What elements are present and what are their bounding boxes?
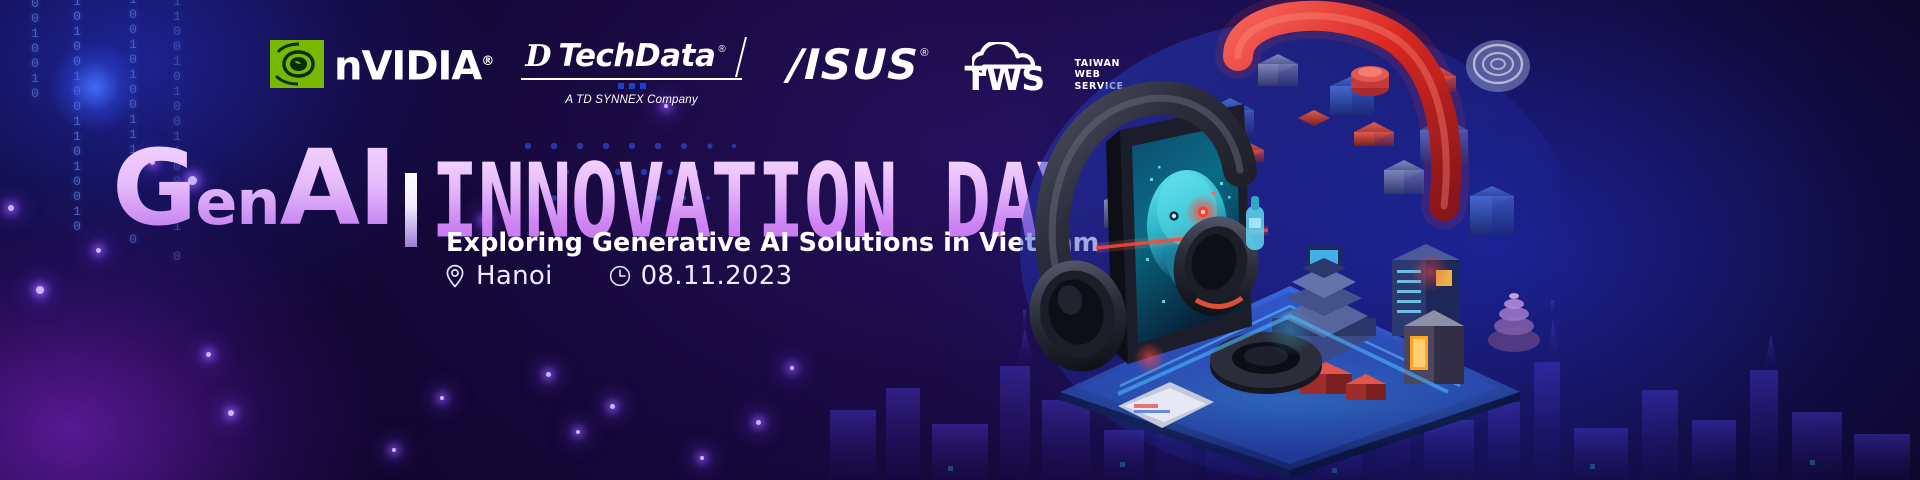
asus-wordmark: /ISUS	[787, 44, 919, 86]
techdata-square-accents	[618, 83, 646, 89]
glow-bloom-blue	[50, 42, 140, 132]
particle-glow	[228, 410, 234, 416]
spiral-disc	[1466, 40, 1530, 92]
techdata-tagline: A TD SYNNEX Company	[565, 94, 697, 106]
particle-glow	[700, 456, 704, 460]
event-location: Hanoi	[444, 262, 553, 290]
particle-glow	[790, 366, 794, 370]
nvidia-eye-icon	[270, 40, 324, 88]
headline-divider-bar	[405, 173, 417, 247]
genai-ai: AI	[280, 127, 395, 249]
particle-glow	[392, 448, 396, 452]
techdata-underline	[521, 78, 741, 80]
particle-glow	[756, 420, 761, 425]
clock-icon	[609, 264, 631, 288]
particle-glow	[546, 372, 551, 377]
logo-asus: /ISUS ®	[788, 36, 929, 86]
event-banner: 0010010 1010010011010010 100101001110001…	[0, 0, 1920, 480]
event-date-label: 08.11.2023	[641, 262, 793, 290]
particle-glow	[576, 430, 580, 434]
logo-nvidia: nVIDIA®	[270, 36, 493, 88]
genai-en: en	[195, 166, 279, 239]
particle-glow	[36, 286, 44, 294]
nvidia-registered-mark: ®	[481, 54, 493, 69]
logo-techdata: D TechData ® A TD SYNNEX Company	[521, 36, 741, 106]
genai-brandmark: GenAI	[112, 136, 395, 255]
red-cylinder-stack	[1351, 66, 1389, 96]
isometric-ai-tech-city-illustration	[1000, 0, 1560, 480]
asus-registered-mark: ®	[920, 47, 928, 59]
event-meta-row: Hanoi 08.11.2023	[444, 262, 792, 290]
particle-glow	[610, 404, 615, 409]
techdata-registered-mark: ®	[718, 44, 725, 55]
particle-glow	[206, 352, 211, 357]
genai-g: G	[112, 127, 195, 249]
techdata-wordmark: TechData	[558, 41, 715, 72]
techdata-wordmark-group: D TechData ®	[521, 39, 741, 76]
techdata-monogram: D	[525, 42, 551, 72]
location-pin-icon	[444, 264, 466, 288]
particle-glow	[96, 248, 101, 253]
particle-glow	[440, 396, 444, 400]
binary-stream-1: 0010010	[28, 0, 42, 101]
event-location-label: Hanoi	[476, 262, 553, 290]
partner-logo-row: nVIDIA® D TechData ® A TD SYNNEX Company…	[270, 36, 1124, 94]
event-date: 08.11.2023	[609, 262, 793, 290]
nvidia-wordmark: nVIDIA®	[334, 42, 493, 86]
particle-glow	[8, 205, 14, 211]
techdata-slash-rule	[735, 37, 747, 77]
